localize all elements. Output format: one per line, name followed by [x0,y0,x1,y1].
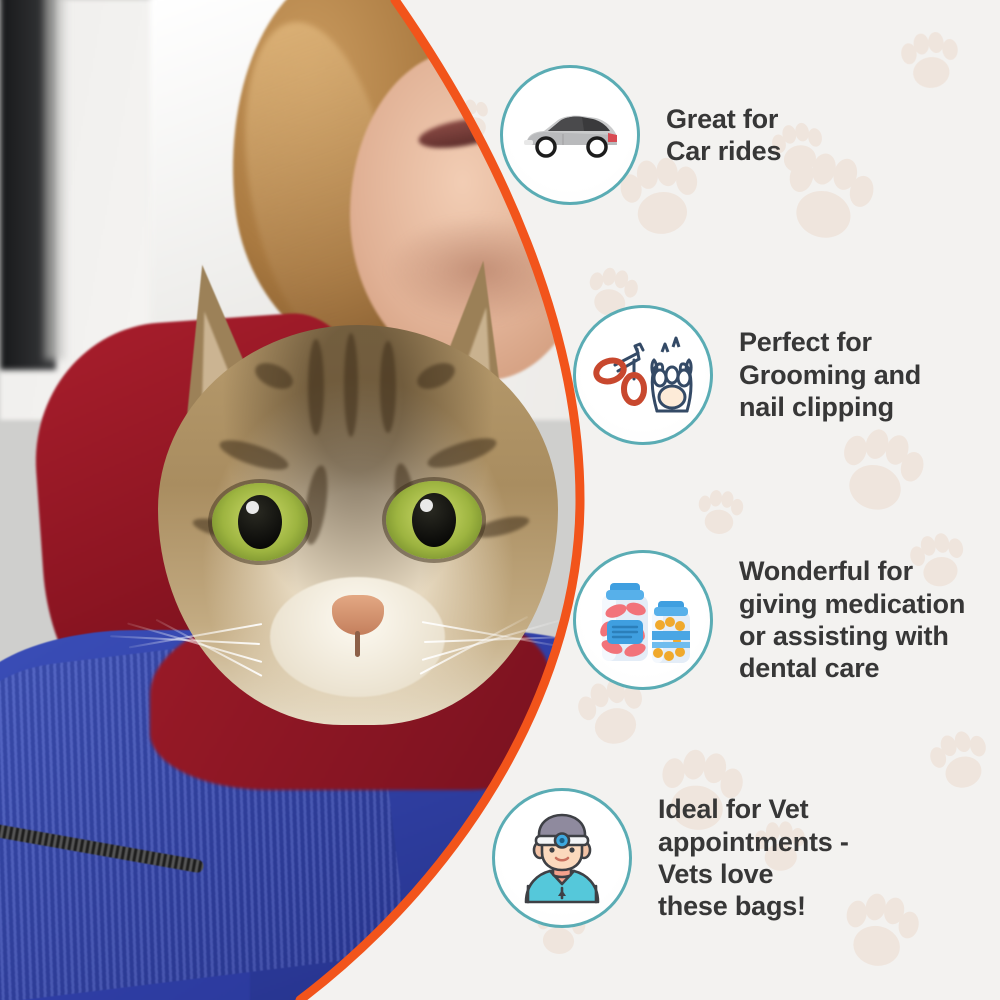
feature-row-grooming: Perfect for Grooming and nail clipping [573,305,921,445]
grooming-icon-badge [573,305,713,445]
vet-icon-badge [492,788,632,928]
car-icon-badge [500,65,640,205]
infographic-canvas: Great for Car rides [0,0,1000,1000]
cat-eye-left [212,483,308,561]
feature-label-car-rides: Great for Car rides [666,103,781,168]
feature-row-medication: Wonderful for giving medication or assis… [573,550,965,690]
feature-label-vet: Ideal for Vet appointments - Vets love t… [658,793,849,923]
feature-label-grooming: Perfect for Grooming and nail clipping [739,326,921,423]
veterinarian-icon [512,810,612,906]
feature-row-car-rides: Great for Car rides [500,65,781,205]
cat-eye-right [386,481,482,559]
medicine-icon-badge [573,550,713,690]
feature-row-vet: Ideal for Vet appointments - Vets love t… [492,788,849,928]
nail-clippers-paw-icon [591,327,695,423]
medicine-bottles-icon [590,573,696,667]
feature-label-medication: Wonderful for giving medication or assis… [739,555,965,685]
car-icon [518,104,622,166]
cat-face [150,255,570,725]
